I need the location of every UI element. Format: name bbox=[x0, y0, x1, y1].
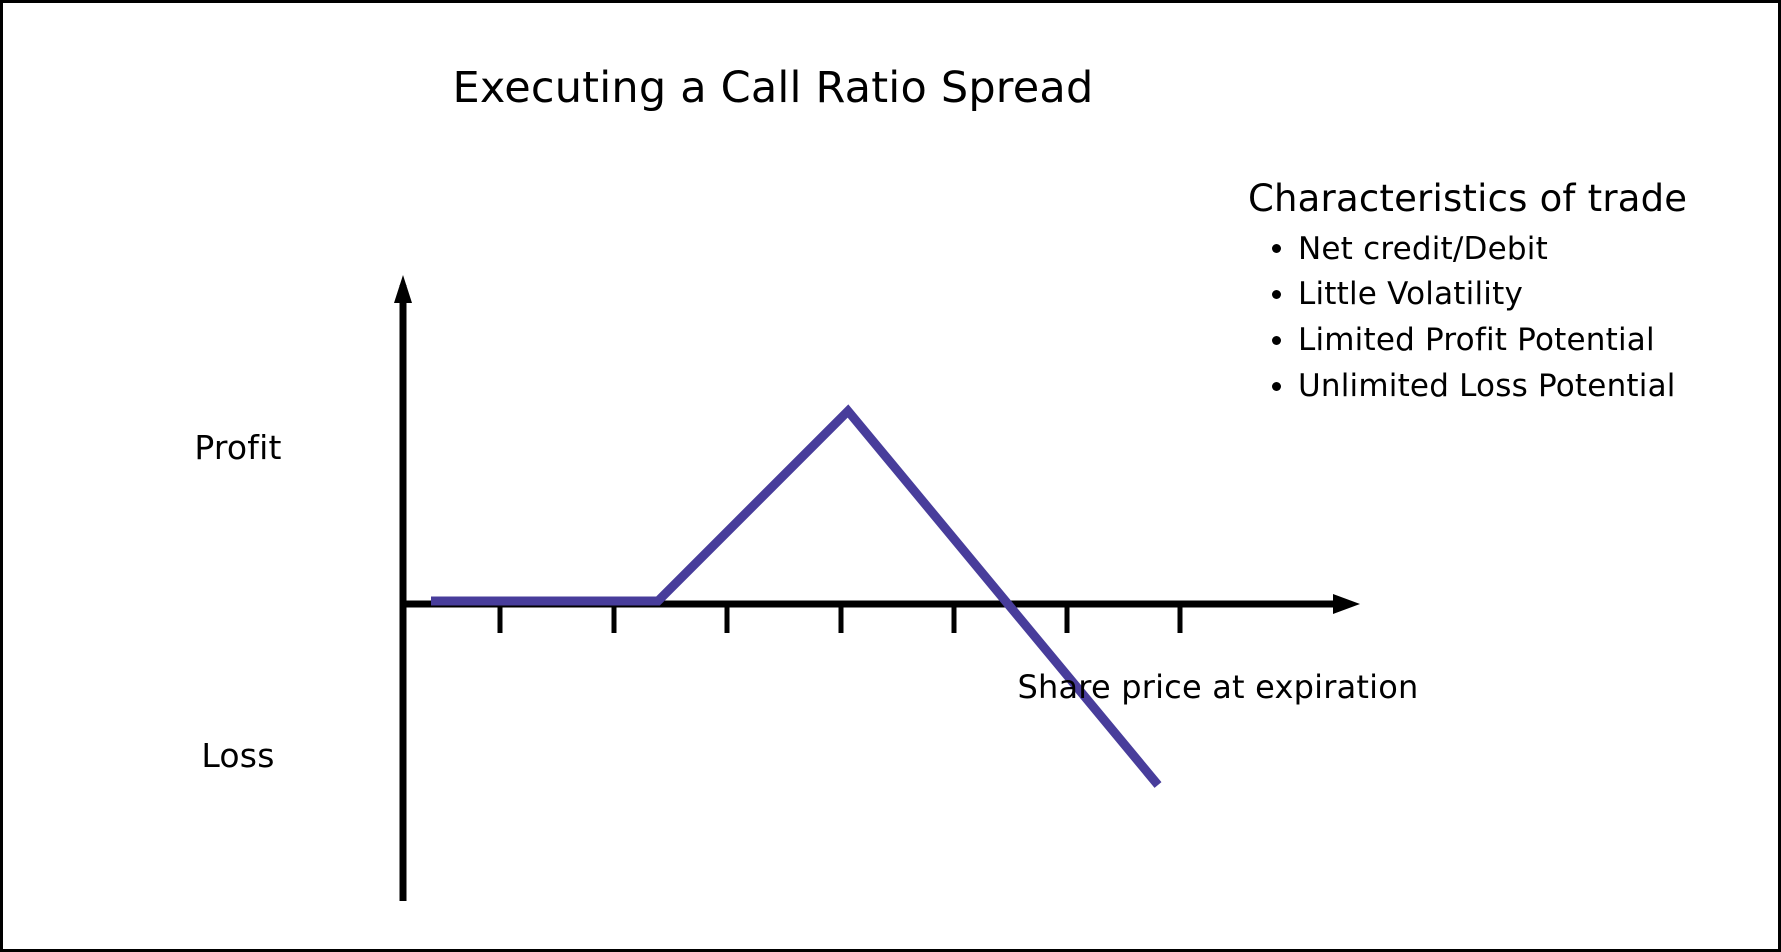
list-item-label: Limited Profit Potential bbox=[1298, 322, 1655, 358]
bullet-icon bbox=[1272, 382, 1281, 391]
x-axis-ticks bbox=[500, 607, 1180, 633]
list-item-label: Little Volatility bbox=[1298, 276, 1523, 312]
payoff-diagram bbox=[3, 3, 1781, 952]
bullet-icon bbox=[1272, 290, 1281, 299]
y-axis-label-profit: Profit bbox=[133, 428, 343, 467]
payoff-line bbox=[431, 411, 1158, 785]
chart-canvas: Executing a Call Ratio Spread Profit Los… bbox=[0, 0, 1781, 952]
list-item: Little Volatility bbox=[1272, 272, 1748, 318]
bullet-icon bbox=[1272, 336, 1281, 345]
list-item: Net credit/Debit bbox=[1272, 227, 1748, 273]
bullet-icon bbox=[1272, 244, 1281, 253]
x-axis-arrowhead bbox=[1333, 594, 1360, 614]
list-item-label: Net credit/Debit bbox=[1298, 231, 1548, 267]
y-axis-arrowhead bbox=[394, 275, 412, 303]
characteristics-heading: Characteristics of trade bbox=[1248, 178, 1748, 221]
x-axis-label: Share price at expiration bbox=[1018, 668, 1419, 706]
list-item: Unlimited Loss Potential bbox=[1272, 364, 1748, 410]
list-item: Limited Profit Potential bbox=[1272, 318, 1748, 364]
list-item-label: Unlimited Loss Potential bbox=[1298, 368, 1676, 404]
y-axis-label-loss: Loss bbox=[133, 736, 343, 775]
characteristics-panel: Characteristics of trade Net credit/Debi… bbox=[1248, 178, 1748, 410]
characteristics-list: Net credit/Debit Little Volatility Limit… bbox=[1248, 227, 1748, 411]
